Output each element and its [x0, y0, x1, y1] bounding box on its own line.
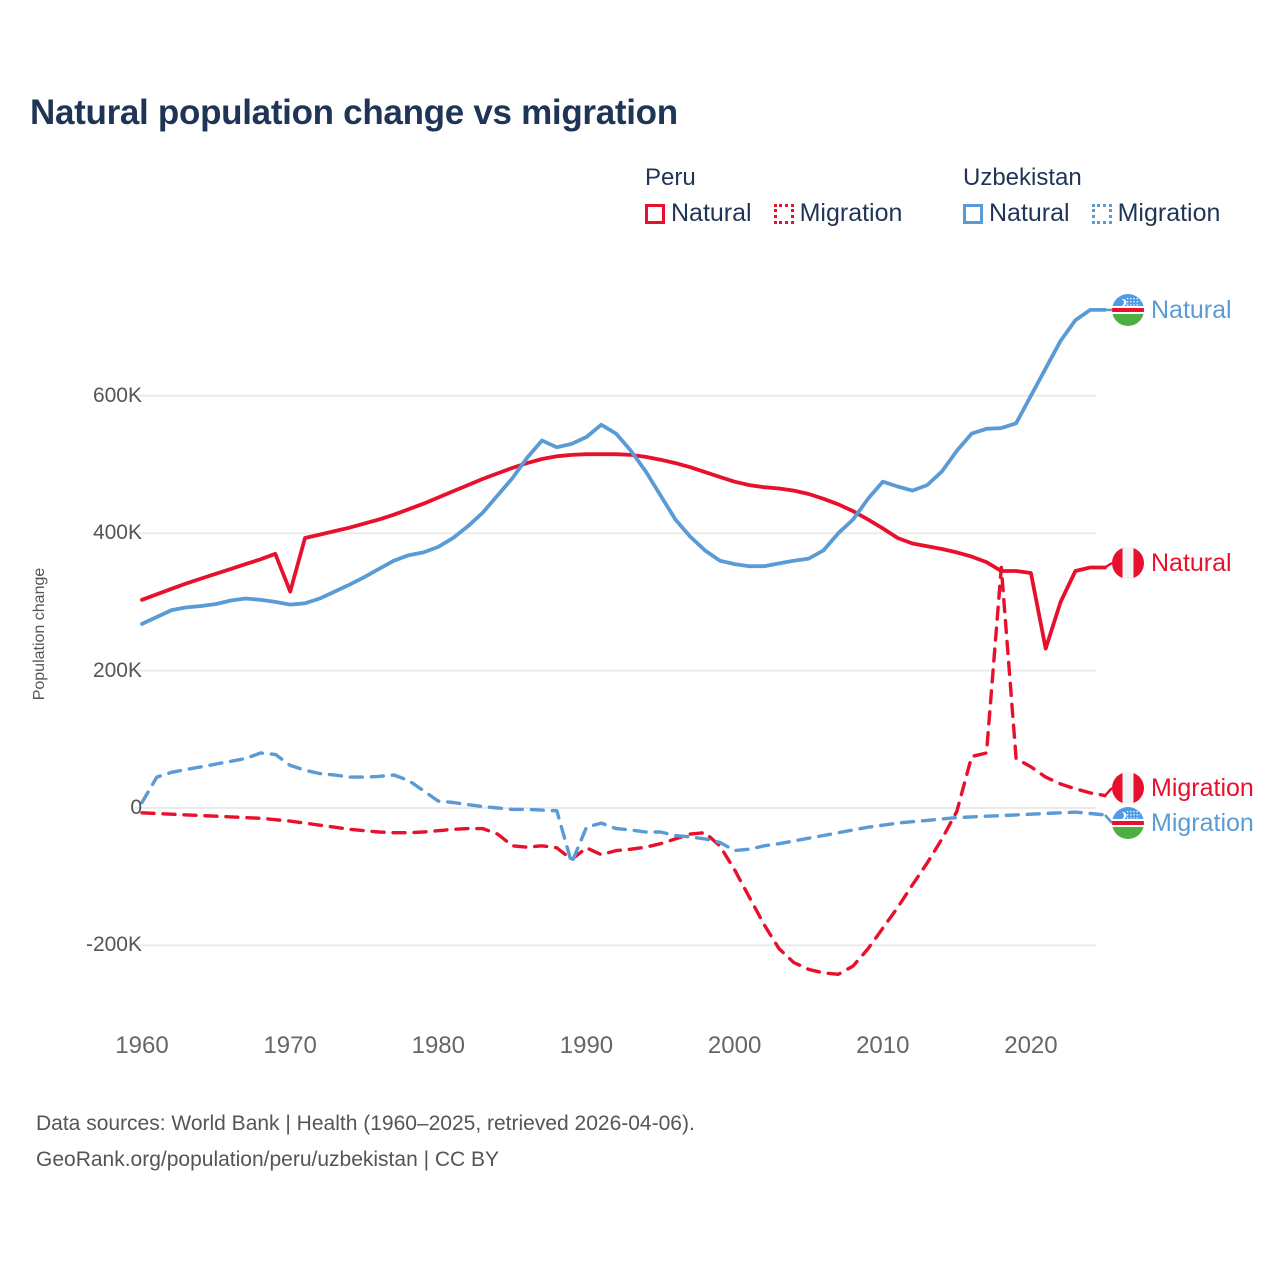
- y-tick-label: 200K: [93, 659, 142, 683]
- x-tick-label: 2000: [708, 1032, 761, 1060]
- y-tick-label: 0: [130, 796, 142, 820]
- series-line-peru-migration: [142, 568, 1105, 975]
- y-axis-tick-labels: 600K400K200K0-200K: [60, 0, 142, 1100]
- x-tick-label: 1990: [560, 1032, 613, 1060]
- chart-svg: [0, 0, 1280, 1280]
- x-tick-label: 1970: [263, 1032, 316, 1060]
- series-connector: [1105, 788, 1112, 796]
- end-label-uz-natural[interactable]: Natural: [1112, 294, 1232, 326]
- end-label-text: Natural: [1151, 296, 1232, 325]
- y-tick-label: 600K: [93, 384, 142, 408]
- peru-flag-icon: [1112, 772, 1144, 804]
- end-label-text: Natural: [1151, 549, 1232, 578]
- series-connector: [1105, 815, 1112, 823]
- uzbekistan-flag-icon: [1112, 294, 1144, 326]
- x-tick-label: 2010: [856, 1032, 909, 1060]
- peru-flag-icon: [1112, 547, 1144, 579]
- end-label-pe-natural[interactable]: Natural: [1112, 547, 1232, 579]
- end-label-uz-migration[interactable]: Migration: [1112, 807, 1254, 839]
- series-connector: [1105, 563, 1112, 568]
- series-line-uzbekistan-natural: [142, 310, 1105, 624]
- x-tick-label: 1980: [412, 1032, 465, 1060]
- footer-line-sources: Data sources: World Bank | Health (1960–…: [36, 1106, 695, 1142]
- y-tick-label: -200K: [86, 933, 142, 957]
- chart-footer: Data sources: World Bank | Health (1960–…: [36, 1106, 695, 1178]
- y-axis-title: Population change: [31, 534, 49, 734]
- y-tick-label: 400K: [93, 521, 142, 545]
- end-label-pe-migration[interactable]: Migration: [1112, 772, 1254, 804]
- end-label-text: Migration: [1151, 809, 1254, 838]
- x-tick-label: 2020: [1004, 1032, 1057, 1060]
- uzbekistan-flag-icon: [1112, 807, 1144, 839]
- end-label-text: Migration: [1151, 774, 1254, 803]
- chart-plot-area: Population change 600K400K200K0-200K 196…: [0, 0, 1280, 1280]
- footer-line-attribution: GeoRank.org/population/peru/uzbekistan |…: [36, 1142, 695, 1178]
- x-tick-label: 1960: [115, 1032, 168, 1060]
- series-line-peru-natural: [142, 454, 1105, 648]
